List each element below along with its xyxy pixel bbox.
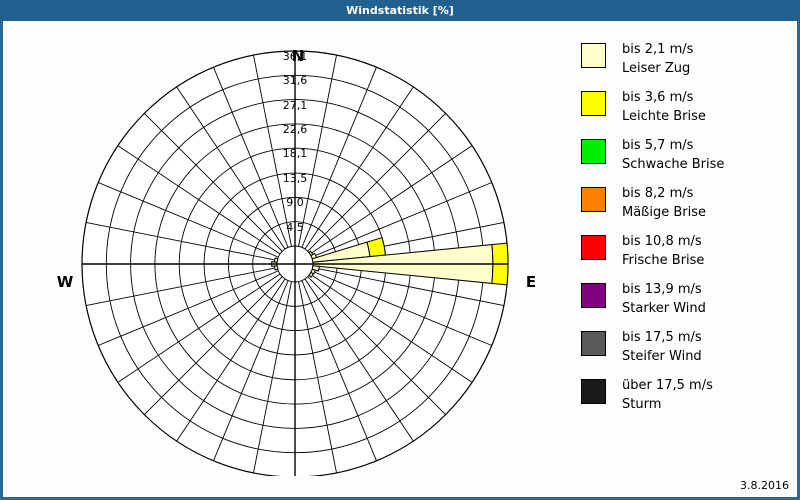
- legend-color-swatch-icon-0: [581, 43, 606, 68]
- radial-tick-label-5: 22,6: [272, 123, 318, 136]
- legend-item-7[interactable]: über 17,5 m/sSturm: [581, 376, 791, 418]
- compass-label-east: E: [511, 273, 551, 291]
- footer-bar: 3.8.2016: [3, 476, 797, 497]
- legend-speed-5: bis 13,9 m/s: [622, 282, 702, 297]
- legend-label-3: bis 8,2 m/sMäßige Brise: [622, 184, 706, 222]
- legend-item-5[interactable]: bis 13,9 m/sStarker Wind: [581, 280, 791, 322]
- legend-color-swatch-icon-4: [581, 235, 606, 260]
- date-stamp: 3.8.2016: [740, 479, 789, 492]
- legend-color-swatch-icon-1: [581, 91, 606, 116]
- legend-name-6: Steifer Wind: [622, 347, 702, 366]
- legend-speed-1: bis 3,6 m/s: [622, 90, 693, 105]
- legend-item-0[interactable]: bis 2,1 m/sLeiser Zug: [581, 40, 791, 82]
- legend-speed-0: bis 2,1 m/s: [622, 42, 693, 57]
- legend-color-swatch-icon-3: [581, 187, 606, 212]
- legend-speed-7: über 17,5 m/s: [622, 378, 713, 393]
- legend-color-swatch-icon-5: [581, 283, 606, 308]
- chart-canvas: N S W E 4,59,013,518,122,627,131,636,1 b…: [3, 21, 797, 476]
- legend-color-swatch-icon-2: [581, 139, 606, 164]
- legend-name-5: Starker Wind: [622, 299, 706, 318]
- window-title-bar: Windstatistik [%]: [0, 0, 800, 21]
- legend-speed-2: bis 5,7 m/s: [622, 138, 693, 153]
- legend-item-3[interactable]: bis 8,2 m/sMäßige Brise: [581, 184, 791, 226]
- legend-name-1: Leichte Brise: [622, 107, 706, 126]
- legend: bis 2,1 m/sLeiser Zugbis 3,6 m/sLeichte …: [581, 40, 791, 424]
- legend-label-5: bis 13,9 m/sStarker Wind: [622, 280, 706, 318]
- legend-item-6[interactable]: bis 17,5 m/sSteifer Wind: [581, 328, 791, 370]
- radial-tick-label-4: 18,1: [272, 147, 318, 160]
- legend-speed-3: bis 8,2 m/s: [622, 186, 693, 201]
- radial-tick-label-7: 31,6: [272, 74, 318, 87]
- radial-tick-label-2: 9,0: [272, 196, 318, 209]
- legend-label-6: bis 17,5 m/sSteifer Wind: [622, 328, 702, 366]
- legend-speed-4: bis 10,8 m/s: [622, 234, 702, 249]
- legend-name-0: Leiser Zug: [622, 59, 693, 78]
- legend-name-7: Sturm: [622, 395, 713, 414]
- legend-label-4: bis 10,8 m/sFrische Brise: [622, 232, 704, 270]
- legend-label-0: bis 2,1 m/sLeiser Zug: [622, 40, 693, 78]
- windrose-sector-7-bin-0: [274, 266, 277, 270]
- legend-label-7: über 17,5 m/sSturm: [622, 376, 713, 414]
- application-window: Windstatistik [%] N S W E 4,59,013,518,1…: [0, 0, 800, 500]
- legend-item-2[interactable]: bis 5,7 m/sSchwache Brise: [581, 136, 791, 178]
- legend-label-1: bis 3,6 m/sLeichte Brise: [622, 88, 706, 126]
- legend-speed-6: bis 17,5 m/s: [622, 330, 702, 345]
- legend-item-4[interactable]: bis 10,8 m/sFrische Brise: [581, 232, 791, 274]
- radial-tick-label-6: 27,1: [272, 99, 318, 112]
- radial-tick-label-1: 4,5: [272, 221, 318, 234]
- legend-item-1[interactable]: bis 3,6 m/sLeichte Brise: [581, 88, 791, 130]
- legend-color-swatch-icon-7: [581, 379, 606, 404]
- radial-tick-label-8: 36,1: [272, 50, 318, 63]
- legend-name-3: Mäßige Brise: [622, 203, 706, 222]
- legend-name-4: Frische Brise: [622, 251, 704, 270]
- legend-color-swatch-icon-6: [581, 331, 606, 356]
- legend-label-2: bis 5,7 m/sSchwache Brise: [622, 136, 724, 174]
- compass-label-west: W: [45, 273, 85, 291]
- page-title: Windstatistik [%]: [346, 4, 454, 17]
- windrose-sector-8-bin-0: [274, 258, 277, 262]
- legend-name-2: Schwache Brise: [622, 155, 724, 174]
- radial-tick-label-3: 13,5: [272, 172, 318, 185]
